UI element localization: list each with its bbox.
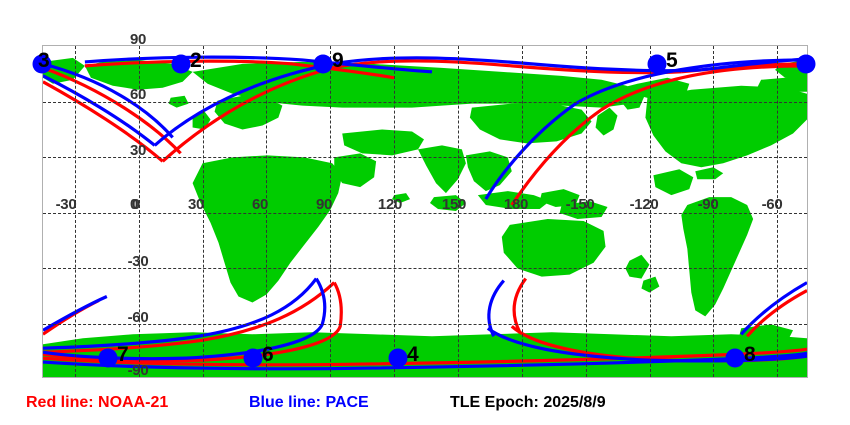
lat-label--60: -60 [128,309,149,326]
gridline-lat-30 [43,157,807,158]
landmass-layer [43,58,807,377]
lat-label-90: 90 [130,31,146,48]
lat-label-30: 30 [130,142,146,159]
satellite-marker-10[interactable] [797,55,816,74]
legend: Red line: NOAA-21 Blue line: PACE TLE Ep… [0,394,850,420]
satellite-label-6: 6 [262,343,274,367]
satellite-label-4: 4 [407,343,419,367]
lon-label-150: 150 [442,196,466,213]
satellite-marker-7[interactable] [99,349,118,368]
satellite-marker-6[interactable] [244,349,263,368]
lon-label-120: 120 [378,196,402,213]
lon-label--30: -30 [56,196,77,213]
satellite-label-2: 2 [190,49,202,73]
satellite-label-3: 3 [38,49,50,73]
lon-label--150: -150 [566,196,595,213]
map-canvas [43,46,807,377]
satellite-marker-4[interactable] [389,349,408,368]
lat-label-60: 60 [130,86,146,103]
legend-blue-line: Blue line: PACE [249,394,369,412]
gridline-lat-60 [43,102,807,103]
satellite-label-8: 8 [744,343,756,367]
satellite-marker-2[interactable] [172,55,191,74]
satellite-label-7: 7 [117,343,129,367]
legend-red-line: Red line: NOAA-21 [26,394,168,412]
lon-label--120: -120 [630,196,659,213]
satellite-label-5: 5 [666,49,678,73]
lon-label-90: 90 [316,196,332,213]
gridline-lat-0 [43,213,807,214]
lon-label-60: 60 [252,196,268,213]
gridline-lat--30 [43,268,807,269]
lon-label--90: -90 [698,196,719,213]
lat-label--90: -90 [128,362,149,379]
gridline-lat--60 [43,324,807,325]
satellite-label-9: 9 [332,49,344,73]
ground-track-map [42,45,808,378]
lon-label--60: -60 [762,196,783,213]
lon-label-180: 180 [504,196,528,213]
satellite-marker-9[interactable] [314,55,333,74]
lat-label--30: -30 [128,253,149,270]
satellite-marker-5[interactable] [648,55,667,74]
satellite-marker-8[interactable] [726,349,745,368]
lon-label-30: 30 [188,196,204,213]
world-map-svg [43,46,807,377]
legend-tle-epoch: TLE Epoch: 2025/8/9 [450,394,606,412]
lat-label-0: 0 [132,196,140,213]
